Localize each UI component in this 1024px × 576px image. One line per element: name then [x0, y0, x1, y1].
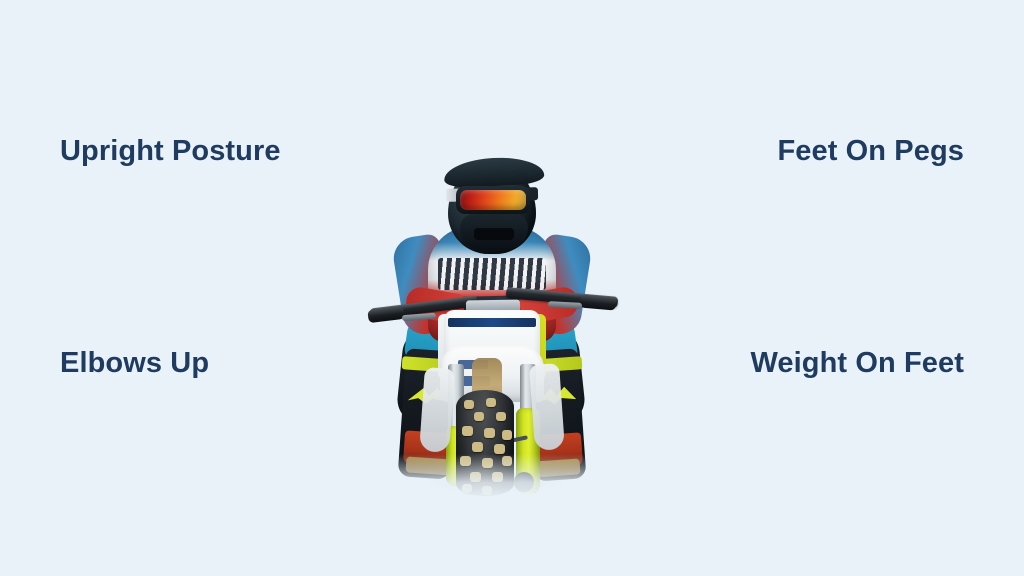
helmet-vent [474, 228, 514, 240]
tire-knob [462, 426, 473, 436]
handlebar-grip-left [367, 306, 404, 323]
tire-knob [464, 400, 474, 409]
infographic-slide: Upright Posture Feet On Pegs Elbows Up W… [0, 0, 1024, 576]
number-plate-band [448, 318, 536, 327]
rider-photo [362, 150, 624, 500]
tire-knob [474, 412, 484, 421]
tire-knob [484, 428, 495, 438]
tire-knob [496, 412, 506, 421]
jersey-front-graphic [438, 258, 546, 290]
callout-label-elbows-up: Elbows Up [60, 343, 209, 384]
fork-guard-right [529, 363, 565, 451]
tire-knob [494, 444, 505, 454]
callout-label-feet-on-pegs: Feet On Pegs [724, 131, 964, 172]
tire-knob [472, 442, 483, 452]
callout-label-weight-on-feet: Weight On Feet [704, 343, 964, 384]
helmet-visor-peak [443, 155, 544, 188]
tire-knob [486, 398, 496, 407]
handlebar-grip-right [580, 294, 617, 310]
fork-guard-left [419, 367, 455, 453]
goggle-lens [460, 190, 526, 210]
callout-label-upright-posture: Upright Posture [60, 131, 281, 172]
tire-knob [502, 430, 512, 440]
photo-bottom-fade [362, 454, 624, 500]
